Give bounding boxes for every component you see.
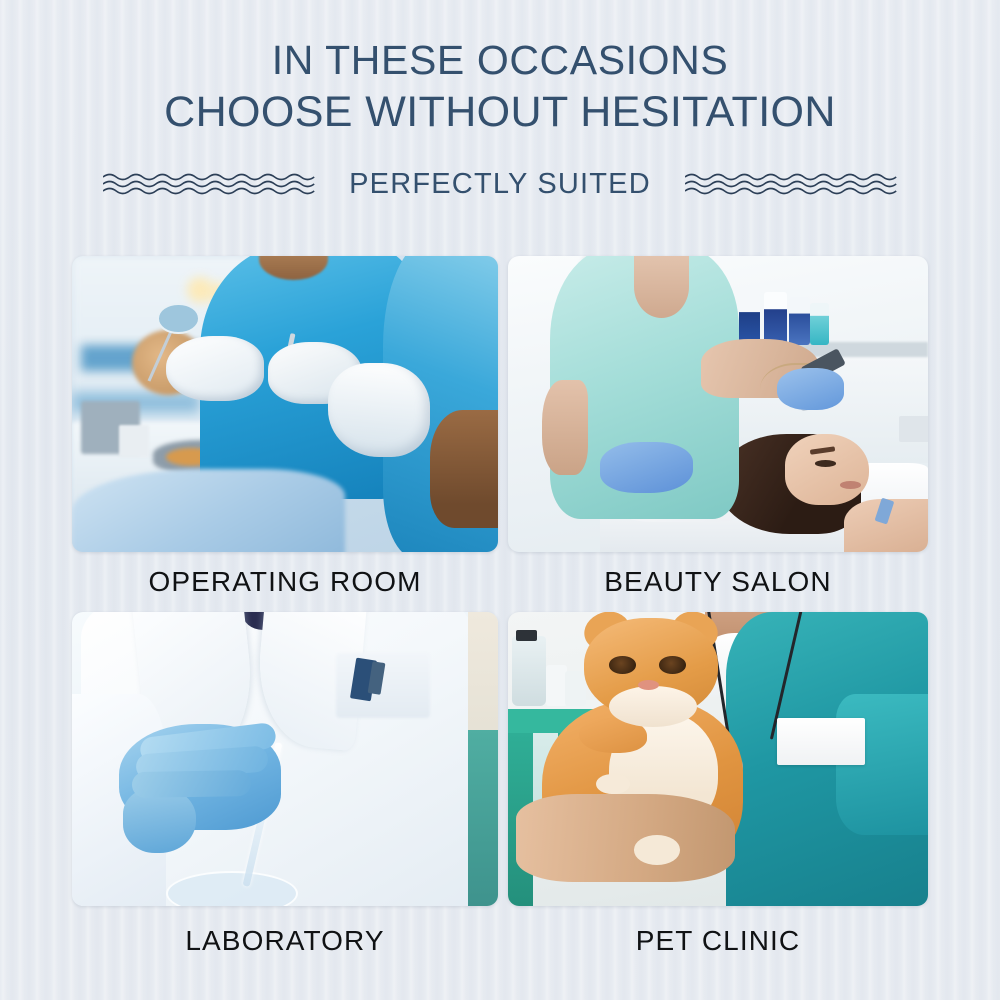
- subtitle-row: PERFECTLY SUITED: [0, 162, 1000, 206]
- gallery-tile-operating-room[interactable]: [72, 256, 498, 552]
- subtitle-text: PERFECTLY SUITED: [315, 168, 685, 201]
- photo-operating-room: [72, 256, 498, 552]
- wave-decoration-left-icon: [103, 169, 315, 199]
- page-title: IN THESE OCCASIONS CHOOSE WITHOUT HESITA…: [0, 34, 1000, 138]
- photo-laboratory: [72, 612, 498, 906]
- headline-line-2: CHOOSE WITHOUT HESITATION: [0, 86, 1000, 138]
- gallery-tile-pet-clinic[interactable]: [508, 612, 928, 906]
- headline-line-1: IN THESE OCCASIONS: [0, 34, 1000, 86]
- caption-operating-room: OPERATING ROOM: [72, 566, 498, 598]
- caption-pet-clinic: PET CLINIC: [508, 925, 928, 957]
- photo-beauty-salon: [508, 256, 928, 552]
- caption-beauty-salon: BEAUTY SALON: [508, 566, 928, 598]
- promo-page: IN THESE OCCASIONS CHOOSE WITHOUT HESITA…: [0, 0, 1000, 1000]
- wave-decoration-right-icon: [685, 169, 897, 199]
- gallery-tile-beauty-salon[interactable]: [508, 256, 928, 552]
- caption-laboratory: LABORATORY: [72, 925, 498, 957]
- gallery-tile-laboratory[interactable]: [72, 612, 498, 906]
- photo-pet-clinic: [508, 612, 928, 906]
